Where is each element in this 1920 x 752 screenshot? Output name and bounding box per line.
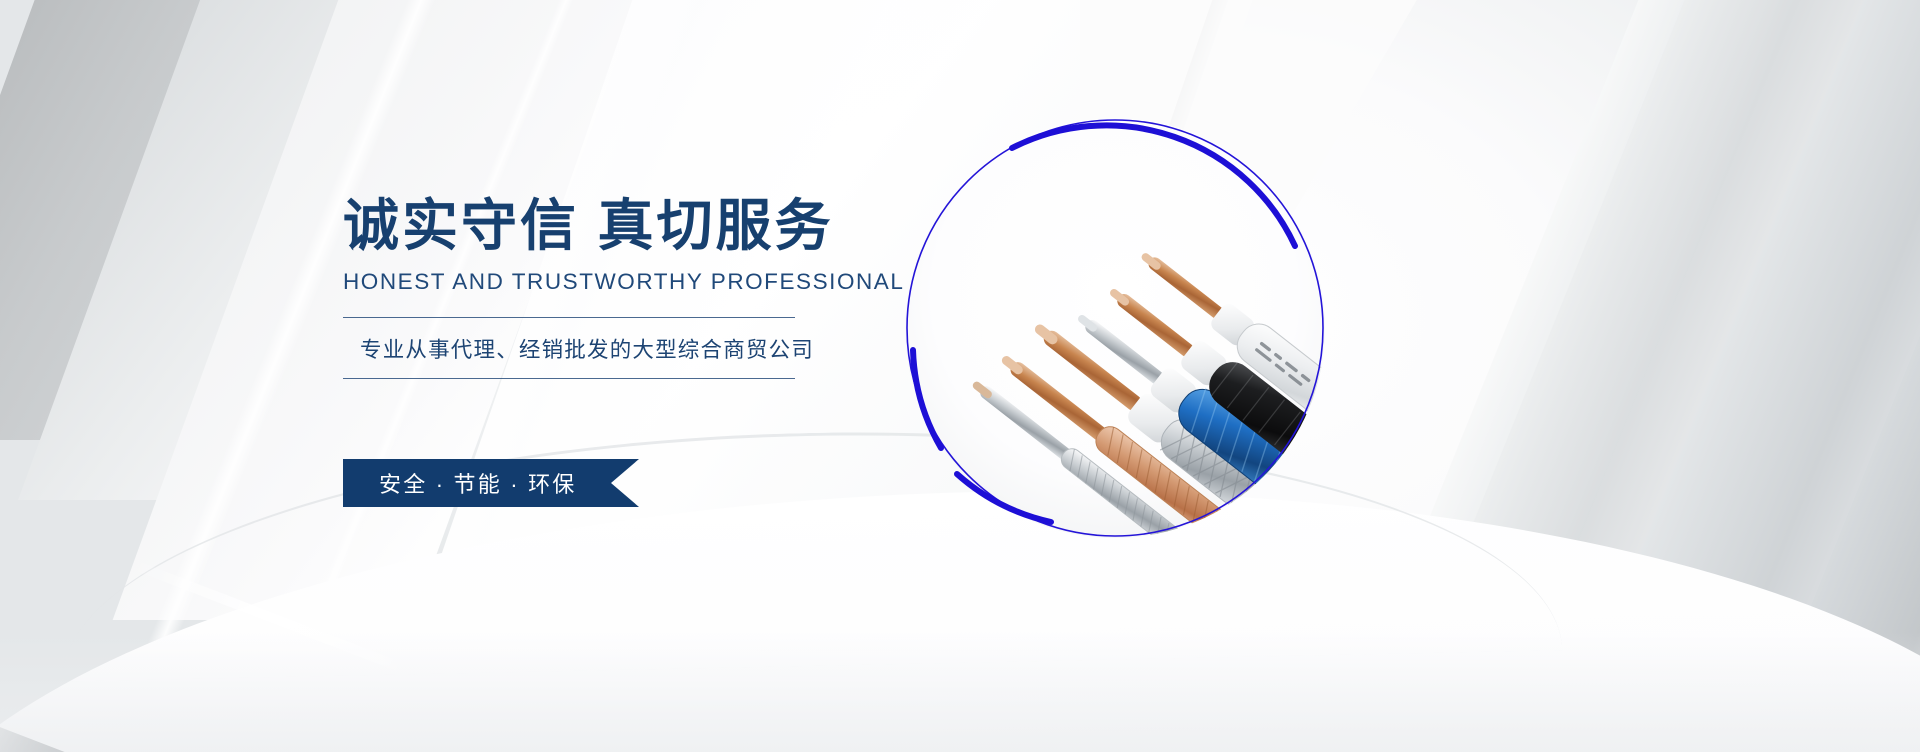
product-circle-ring <box>905 118 1325 538</box>
accent-arc-top-right <box>1012 125 1295 246</box>
feature-badge-arrow-icon <box>611 459 639 507</box>
headline-group: 诚实守信 真切服务 HONEST AND TRUSTWORTHY PROFESS… <box>343 196 963 379</box>
accent-arc-bottom-left <box>957 474 1051 522</box>
divider-bottom <box>343 378 795 379</box>
divider-top <box>343 317 795 318</box>
tagline-rule-box: 专业从事代理、经销批发的大型综合商贸公司 <box>343 317 795 379</box>
tagline-chinese: 专业从事代理、经销批发的大型综合商贸公司 <box>343 318 795 378</box>
promo-banner: 诚实守信 真切服务 HONEST AND TRUSTWORTHY PROFESS… <box>0 0 1920 752</box>
feature-badge: 安全 · 节能 · 环保 <box>343 459 639 507</box>
feature-badge-label: 安全 · 节能 · 环保 <box>379 467 577 499</box>
product-showcase <box>905 118 1325 538</box>
accent-arc-left <box>913 350 941 448</box>
feature-badge-body: 安全 · 节能 · 环保 <box>343 459 611 507</box>
page-title: 诚实守信 真切服务 <box>343 196 963 255</box>
subtitle-english: HONEST AND TRUSTWORTHY PROFESSIONAL SERV… <box>343 269 963 295</box>
